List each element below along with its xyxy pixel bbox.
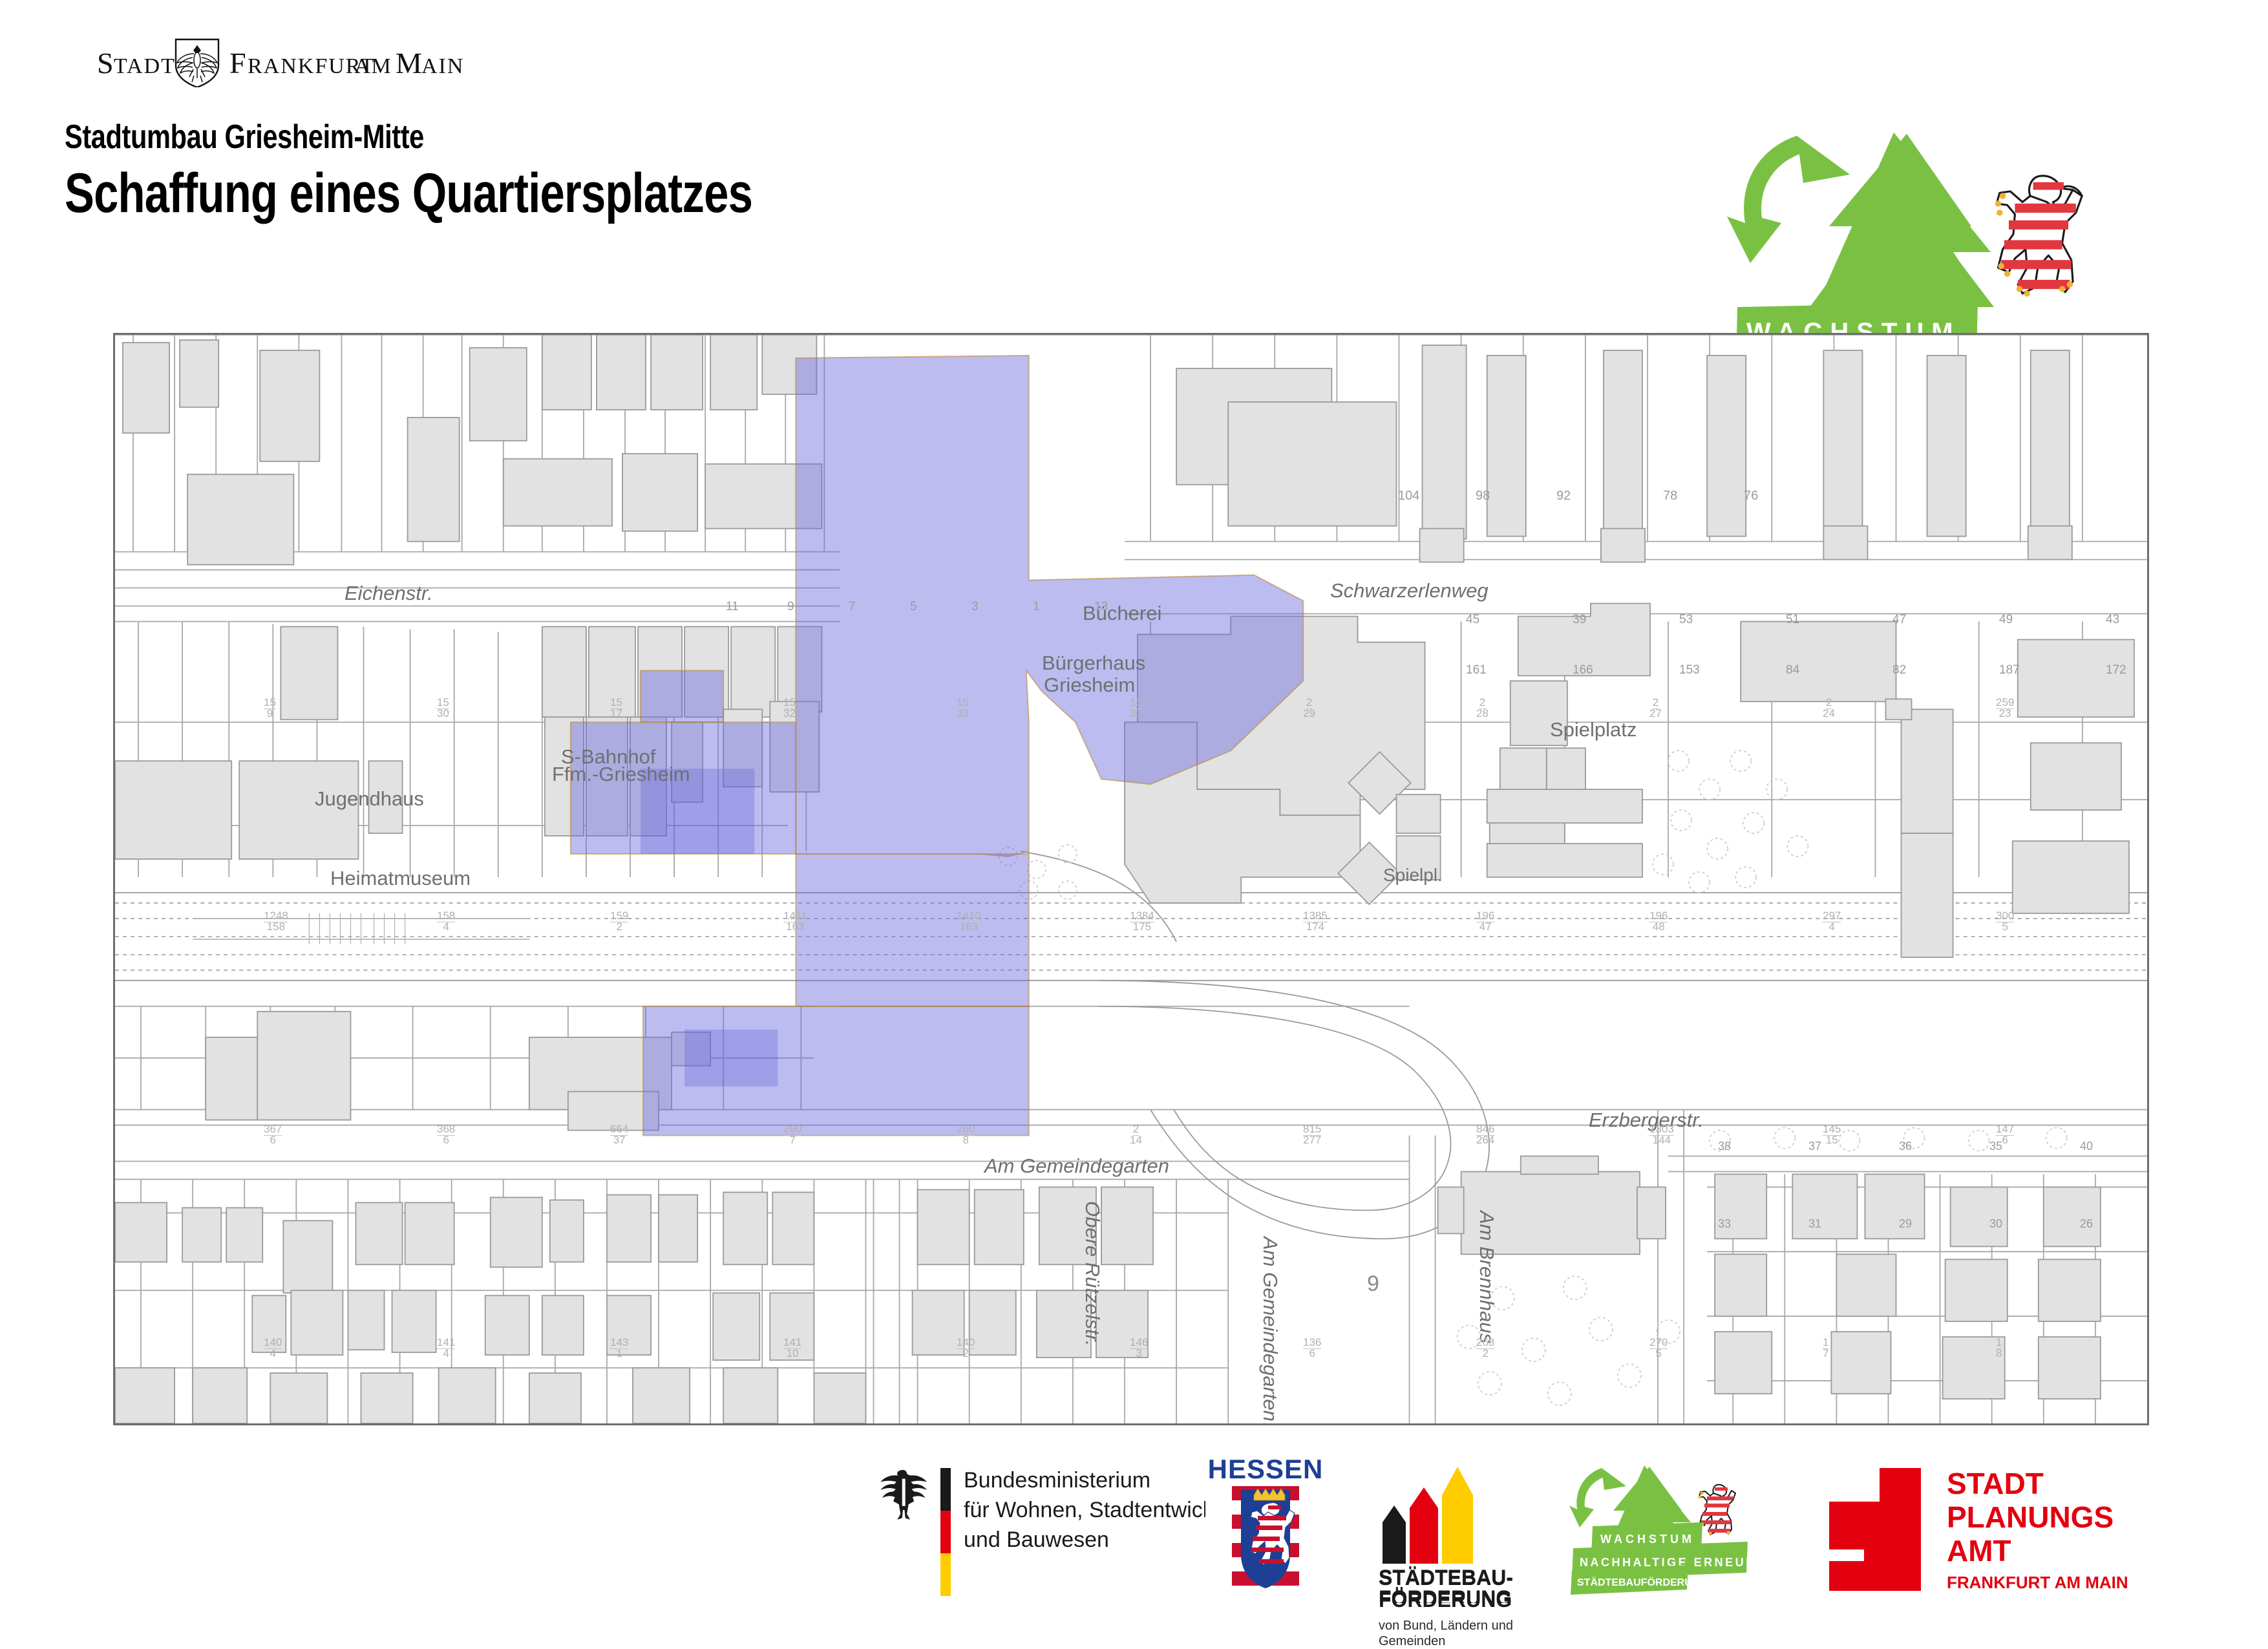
parcel-code: 1531 [1130, 697, 1142, 719]
parcel-number: 37 [1808, 1140, 1821, 1153]
parcel-code: 1384175 [1130, 910, 1154, 932]
parcel-code: 19647 [1476, 910, 1494, 932]
parcel-code: 815277 [1303, 1123, 1321, 1145]
parcel-number: 49 [1999, 613, 2013, 627]
parcel-code: 1411163 [783, 910, 807, 932]
parcel-number: 53 [1679, 613, 1693, 627]
poi-label-buergerhaus: Bürgerhaus [1042, 652, 1145, 675]
parcel-code: 159 [264, 697, 276, 719]
parcel-number: 9 [787, 600, 794, 614]
hessen-label: HESSEN [1208, 1458, 1324, 1484]
hessen-lion-icon [1995, 176, 2083, 297]
parcel-code: 2705 [1649, 1337, 1668, 1359]
staedtebau-title-1: STÄDTEBAU- [1379, 1568, 1513, 1590]
frankfurt-eagle-wordmark: S TADT F RANKFURT AM M AIN [97, 36, 511, 87]
parcel-code: 2682 [1476, 1337, 1494, 1359]
green-growth-arrow-icon [1810, 133, 1994, 307]
parcel-code: 2974 [1823, 910, 1841, 932]
parcel-code: 3686 [437, 1123, 455, 1145]
street-label-obere-ruetzelstr: Obere Rützelstr. [1081, 1201, 1104, 1346]
svg-text:AM: AM [354, 54, 392, 78]
svg-text:TADT: TADT [114, 54, 176, 78]
parcel-code: 1517 [610, 697, 622, 719]
logo-wachstum-nachhaltige-erneuerung: WACHSTUM UND NACHHALTIGE ERNEUERUNG STÄD… [1564, 1458, 1784, 1603]
bundesadler-icon [880, 1470, 927, 1520]
parcel-code: 1584 [437, 910, 455, 932]
parcel-code: 1530 [437, 697, 449, 719]
spa-line3: AMT [1947, 1534, 2011, 1568]
title-block: Stadtumbau Griesheim-Mitte Schaffung ein… [65, 120, 924, 222]
street-label-am-gemeindegarten: Am Gemeindegarten [984, 1154, 1169, 1178]
staedtebau-sub-2: Gemeinden [1379, 1633, 1513, 1649]
parcel-code: 1463 [1130, 1337, 1148, 1359]
parcel-code: 66437 [610, 1123, 628, 1145]
spa-line2: PLANUNGS [1947, 1500, 2114, 1534]
poi-label-griesheim: Griesheim [1044, 674, 1135, 697]
parcel-number: 39 [1573, 613, 1586, 627]
parcel-code: 18 [1996, 1337, 2002, 1359]
poi-label-spielpl: Spielpl. [1383, 865, 1443, 886]
parcel-code: 227 [1649, 697, 1662, 719]
parcel-code: 1402 [957, 1337, 975, 1359]
parcel-code: 224 [1823, 697, 1835, 719]
svg-text:F: F [229, 47, 246, 80]
parcel-code: 14110 [783, 1337, 801, 1359]
parcel-code: 3005 [1996, 910, 2014, 932]
parcel-code: 1533 [957, 697, 969, 719]
spa-line4: FRANKFURT AM MAIN [1947, 1573, 2128, 1592]
parcel-number: 78 [1663, 489, 1677, 504]
hessen-coat-of-arms-icon [1232, 1486, 1299, 1588]
parcel-code: 846264 [1476, 1123, 1494, 1145]
parcel-number: 31 [1808, 1217, 1821, 1231]
recycling-arrow-icon [1727, 136, 1850, 263]
parcel-number: 30 [1989, 1217, 2002, 1231]
bmwsb-line3: und Bauwesen [964, 1527, 1109, 1552]
parcel-number: 7 [849, 600, 856, 614]
street-label-am-gemeindegarten-south: Am Gemeindegarten [1258, 1237, 1282, 1421]
parcel-code: 3676 [264, 1123, 282, 1145]
hessen-lion-icon-small [1699, 1485, 1736, 1535]
parcel-number: 47 [1892, 613, 1906, 627]
parcel-number: 5 [910, 600, 917, 614]
staedtebau-sub-1: von Bund, Ländern und [1379, 1618, 1513, 1633]
parcel-number: 172 [2106, 663, 2126, 677]
spa-line1: STADT [1947, 1467, 2044, 1500]
svg-text:AIN: AIN [421, 54, 464, 78]
parcel-code: 14515 [1823, 1123, 1841, 1145]
parcel-number: 51 [1786, 613, 1799, 627]
parcel-code: 17 [1823, 1337, 1828, 1359]
parcel-number: 29 [1899, 1217, 1912, 1231]
bmwsb-line2: für Wohnen, Stadtentwicklung [964, 1498, 1205, 1522]
parcel-code: 1385174 [1303, 910, 1328, 932]
staedtebau-title-2: FÖRDERUNG [1379, 1590, 1513, 1612]
flag-gold [940, 1553, 951, 1596]
parcel-number: 92 [1556, 489, 1571, 504]
parcel-number: 98 [1476, 489, 1490, 504]
parcel-code: 1592 [610, 910, 628, 932]
street-label-am-brennhaus: Am Brennhaus [1475, 1211, 1498, 1343]
parcel-number: 1 [1033, 600, 1040, 614]
parcel-code: 19648 [1649, 910, 1668, 932]
project-subtitle: Stadtumbau Griesheim-Mitte [65, 120, 752, 155]
parcel-code: 1248158 [264, 910, 288, 932]
poi-label-jugendhaus: Jugendhaus [315, 787, 424, 811]
parcel-number: 11 [726, 600, 739, 614]
recycling-arrow-icon-small [1569, 1468, 1626, 1527]
flag-black [940, 1468, 951, 1511]
three-houses-icon [1383, 1467, 1473, 1564]
parcel-code: 25923 [1996, 697, 2014, 719]
parcel-number: 104 [1398, 489, 1419, 504]
street-label-eichenstr: Eichenstr. [344, 582, 433, 605]
parcel-code: 2607 [783, 1123, 801, 1145]
parcel-number: 166 [1573, 663, 1593, 677]
parcel-code: 1431 [610, 1337, 628, 1359]
cadastral-map[interactable]: Eichenstr. Schwarzerlenweg Erzbergerstr.… [113, 333, 2149, 1425]
flag-red [940, 1511, 951, 1553]
svg-text:S: S [97, 47, 114, 80]
parcel-number: 3 [971, 600, 979, 614]
bmwsb-line1: Bundesministerium [964, 1468, 1150, 1493]
logo-bmwsb: Bundesministerium für Wohnen, Stadtentwi… [869, 1458, 1205, 1603]
svg-text:M: M [396, 47, 422, 80]
parcel-code: 229 [1303, 697, 1315, 719]
parcel-number: 13 [1094, 600, 1108, 614]
parcel-code: 1366 [1303, 1337, 1321, 1359]
parcel-number: 36 [1899, 1140, 1912, 1153]
parcel-number: 40 [2080, 1140, 2093, 1153]
parcel-number: 187 [1999, 663, 2020, 677]
poi-label-spielplatz: Spielplatz [1550, 718, 1637, 741]
city-of-frankfurt-logo: S TADT F RANKFURT AM M AIN [97, 36, 511, 87]
parcel-code: 1414 [437, 1337, 455, 1359]
poi-label-heimatmuseum: Heimatmuseum [330, 867, 471, 890]
parcel-number: 38 [1718, 1140, 1731, 1153]
parcel-code: 1404 [264, 1337, 282, 1359]
logo-staedtebaufoerderung: STÄDTEBAU- FÖRDERUNG STÄDTEBAU- FÖRDERUN… [1367, 1458, 1535, 1603]
parcel-code: 2608 [957, 1123, 975, 1145]
parcel-number: 82 [1892, 663, 1906, 677]
parcel-code: 1476 [1996, 1123, 2014, 1145]
parcel-number: 43 [2106, 613, 2119, 627]
map-marker-9: 9 [1367, 1271, 1379, 1297]
wachstum-line3: STÄDTEBAUFÖRDERUNG HESSEN [1577, 1576, 1753, 1588]
parcel-number: 161 [1466, 663, 1487, 677]
parcel-number: 26 [2080, 1217, 2093, 1231]
logo-hessen: HESSEN [1201, 1458, 1330, 1603]
parcel-number: 45 [1466, 613, 1479, 627]
page-title: Schaffung eines Quartiersplatzes [65, 164, 752, 222]
funding-logo-row: Bundesministerium für Wohnen, Stadtentwi… [0, 1458, 2268, 1603]
parcel-number: 76 [1744, 489, 1758, 504]
parcel-number: 153 [1679, 663, 1700, 677]
parcel-code: 1303144 [1649, 1123, 1674, 1145]
street-label-erzbergerstr: Erzbergerstr. [1589, 1109, 1704, 1132]
parcel-code: 214 [1130, 1123, 1142, 1145]
logo-stadtplanungsamt: STADT PLANUNGS AMT FRANKFURT AM MAIN [1810, 1458, 2172, 1603]
parcel-code: 1410163 [957, 910, 981, 932]
parcel-number: 84 [1786, 663, 1799, 677]
parcel-code: 228 [1476, 697, 1489, 719]
street-label-schwarzerlenweg: Schwarzerlenweg [1330, 579, 1489, 602]
parcel-number: 33 [1718, 1217, 1731, 1231]
stadtplanungsamt-mark-icon [1829, 1468, 1921, 1591]
parcel-code: 1532 [783, 697, 796, 719]
poi-label-ffm-griesheim: Ffm.-Griesheim [552, 763, 690, 786]
